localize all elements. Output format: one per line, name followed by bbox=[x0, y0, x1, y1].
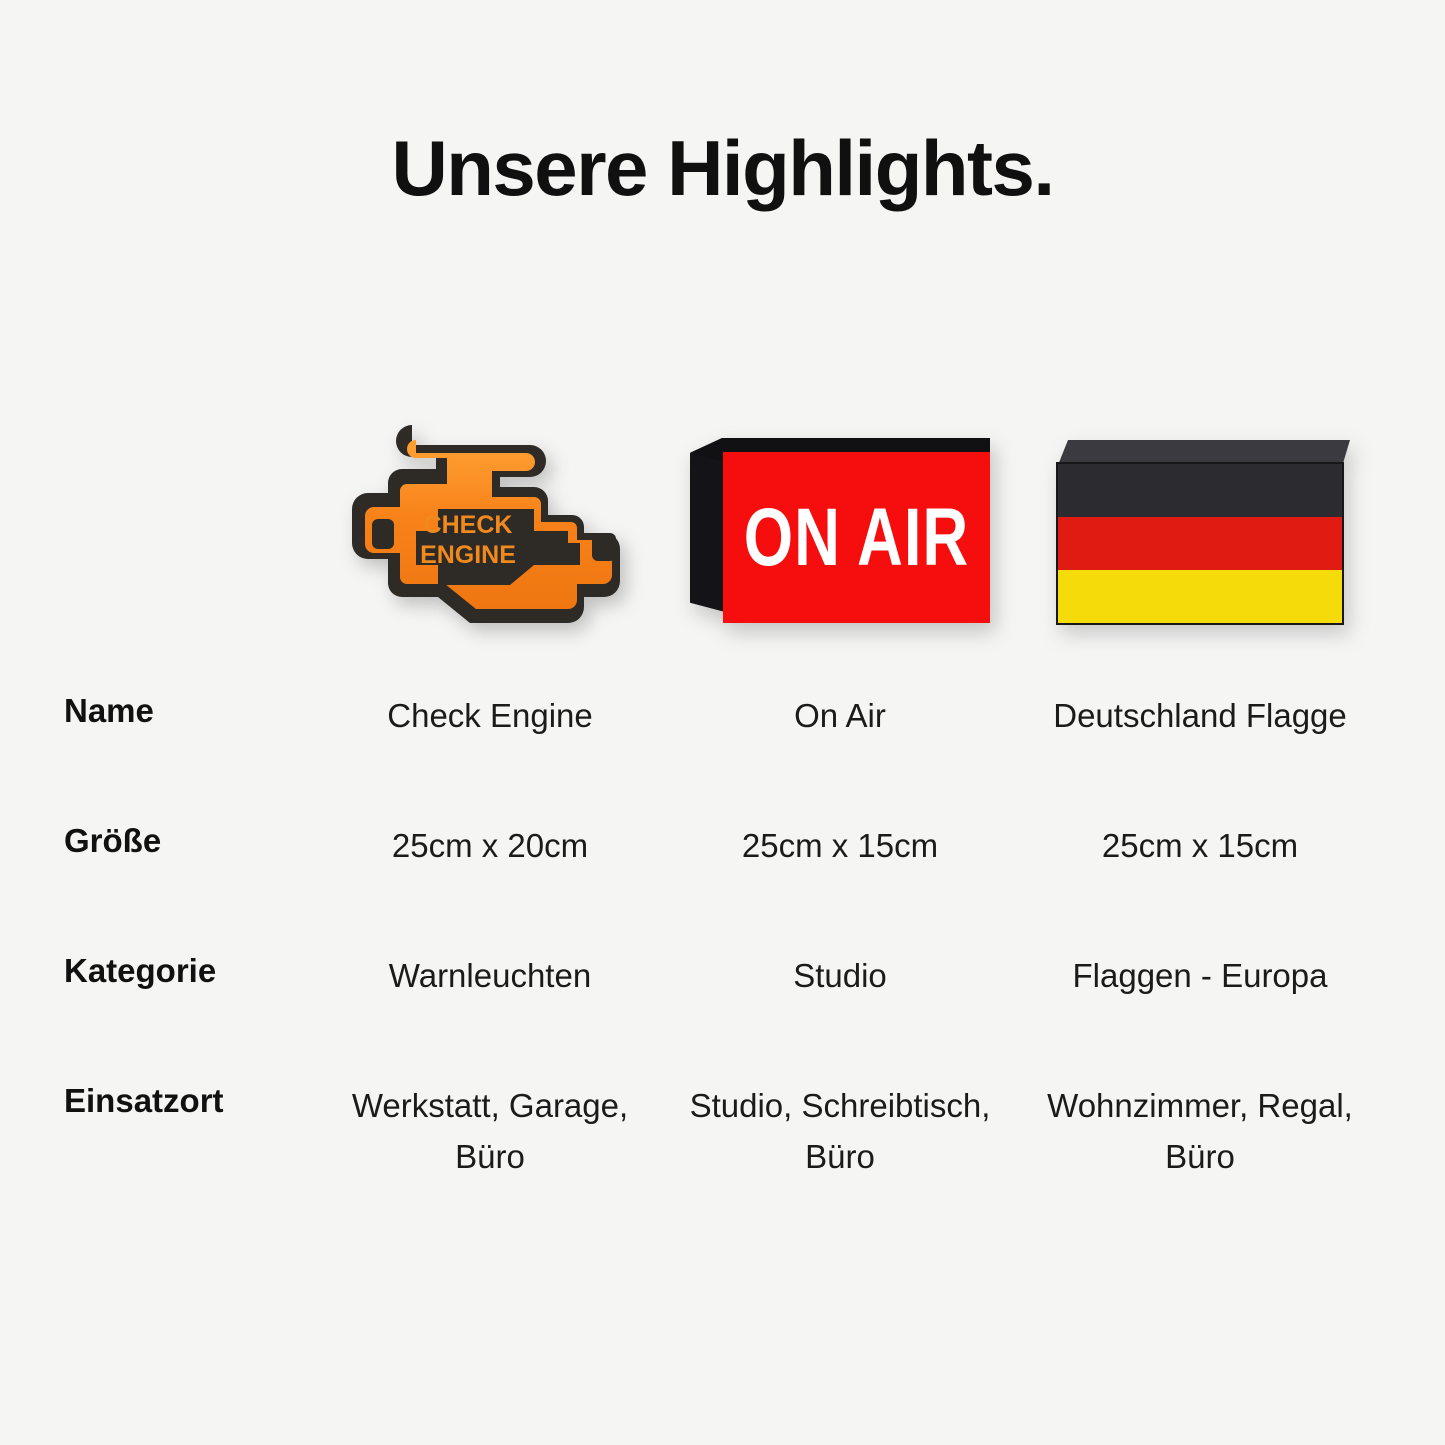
flag-band-red bbox=[1058, 517, 1342, 570]
highlights-page: Unsere Highlights. bbox=[0, 0, 1445, 1445]
cell-kategorie-deutschland-flagge: Flaggen - Europa bbox=[1020, 950, 1380, 1001]
on-air-lightbox-icon: ON AIR bbox=[690, 438, 990, 628]
cell-einsatzort-deutschland-flagge: Wohnzimmer, Regal, Büro bbox=[1020, 1080, 1380, 1182]
cell-kategorie-check-engine: Warnleuchten bbox=[330, 950, 650, 1001]
cell-groesse-check-engine: 25cm x 20cm bbox=[330, 820, 650, 871]
german-flag-lightbox-icon bbox=[1050, 440, 1350, 625]
cell-groesse-on-air: 25cm x 15cm bbox=[680, 820, 1000, 871]
table-row: Name Check Engine On Air Deutschland Fla… bbox=[0, 690, 1445, 820]
cell-groesse-deutschland-flagge: 25cm x 15cm bbox=[1020, 820, 1380, 871]
cell-name-check-engine: Check Engine bbox=[330, 690, 650, 741]
on-air-box-side-face bbox=[690, 453, 726, 613]
product-image-deutschland-flagge[interactable] bbox=[1030, 400, 1370, 665]
row-label-name: Name bbox=[64, 690, 324, 731]
svg-text:ENGINE: ENGINE bbox=[420, 541, 516, 569]
row-label-groesse: Größe bbox=[64, 820, 324, 861]
flag-band-yellow bbox=[1058, 570, 1342, 623]
flag-band-black bbox=[1058, 464, 1342, 517]
on-air-label: ON AIR bbox=[744, 497, 969, 578]
cell-einsatzort-check-engine: Werkstatt, Garage, Büro bbox=[330, 1080, 650, 1182]
flag-box-front-face bbox=[1056, 462, 1344, 625]
page-title: Unsere Highlights. bbox=[0, 126, 1445, 212]
row-label-kategorie: Kategorie bbox=[64, 950, 324, 991]
row-label-einsatzort: Einsatzort bbox=[64, 1080, 324, 1121]
check-engine-lamp-icon: CHECK ENGINE bbox=[340, 423, 640, 643]
svg-text:CHECK: CHECK bbox=[424, 511, 513, 539]
cell-einsatzort-on-air: Studio, Schreibtisch, Büro bbox=[680, 1080, 1000, 1182]
product-image-on-air[interactable]: ON AIR bbox=[675, 400, 1005, 665]
table-row: Kategorie Warnleuchten Studio Flaggen - … bbox=[0, 950, 1445, 1080]
cell-name-deutschland-flagge: Deutschland Flagge bbox=[1020, 690, 1380, 741]
product-image-check-engine[interactable]: CHECK ENGINE bbox=[325, 400, 655, 665]
cell-name-on-air: On Air bbox=[680, 690, 1000, 741]
product-image-strip: CHECK ENGINE ON AIR bbox=[0, 400, 1445, 665]
table-row: Größe 25cm x 20cm 25cm x 15cm 25cm x 15c… bbox=[0, 820, 1445, 950]
cell-kategorie-on-air: Studio bbox=[680, 950, 1000, 1001]
table-row: Einsatzort Werkstatt, Garage, Büro Studi… bbox=[0, 1080, 1445, 1230]
spec-table: Name Check Engine On Air Deutschland Fla… bbox=[0, 690, 1445, 1230]
on-air-box-front-face: ON AIR bbox=[723, 452, 990, 623]
